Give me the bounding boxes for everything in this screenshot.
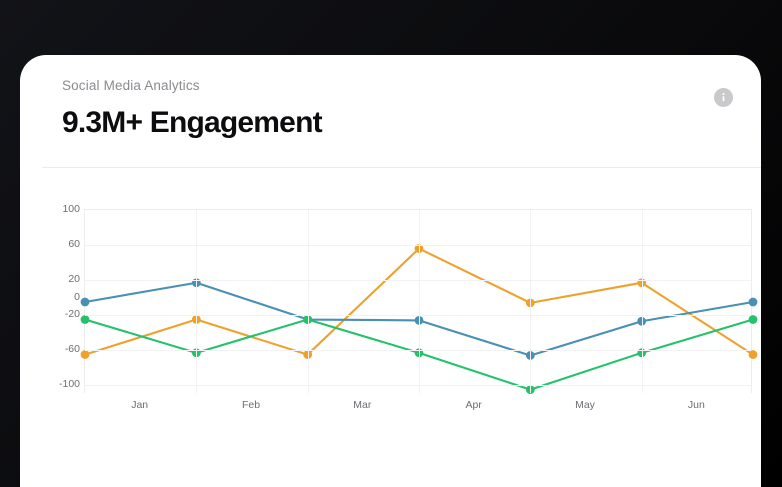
x-axis-tick: Mar	[353, 399, 371, 411]
x-axis: JanFebMarAprMayJun	[84, 399, 752, 419]
gridline-vertical	[642, 210, 643, 393]
y-axis-tick: -100	[40, 378, 80, 390]
y-axis-tick: -60	[40, 343, 80, 355]
gridline-horizontal	[85, 245, 751, 246]
y-axis-tick: 100	[40, 203, 80, 215]
analytics-card: Social Media Analytics 9.3M+ Engagement …	[20, 55, 761, 487]
screenshot-root: Social Media Analytics 9.3M+ Engagement …	[0, 0, 782, 487]
y-axis: 10060200-20-60-100	[32, 167, 80, 487]
y-axis-tick: 0	[40, 291, 80, 303]
x-axis-tick: May	[575, 399, 595, 411]
gridline-horizontal	[85, 315, 751, 316]
data-point[interactable]	[81, 350, 90, 359]
x-axis-tick: Feb	[242, 399, 260, 411]
gridline-horizontal	[85, 280, 751, 281]
gridline-vertical	[196, 210, 197, 393]
y-axis-tick: 20	[40, 273, 80, 285]
y-axis-tick: -20	[40, 308, 80, 320]
plot-area	[84, 209, 752, 393]
data-point[interactable]	[81, 298, 90, 307]
gridline-vertical	[308, 210, 309, 393]
data-point[interactable]	[81, 315, 90, 324]
gridline-horizontal	[85, 385, 751, 386]
info-icon[interactable]	[714, 88, 733, 107]
data-point[interactable]	[749, 315, 758, 324]
data-point[interactable]	[749, 298, 758, 307]
gridline-vertical	[530, 210, 531, 393]
x-axis-tick: Jan	[131, 399, 148, 411]
gridline-horizontal	[85, 350, 751, 351]
x-axis-tick: Jun	[688, 399, 705, 411]
y-axis-tick: 60	[40, 238, 80, 250]
card-header: Social Media Analytics 9.3M+ Engagement	[20, 55, 761, 167]
data-point[interactable]	[749, 350, 758, 359]
engagement-line-chart: 10060200-20-60-100 JanFebMarAprMayJun Fa…	[20, 167, 761, 487]
gridline-vertical	[419, 210, 420, 393]
card-eyebrow: Social Media Analytics	[62, 77, 733, 95]
page-title: 9.3M+ Engagement	[62, 104, 733, 142]
x-axis-tick: Apr	[465, 399, 481, 411]
